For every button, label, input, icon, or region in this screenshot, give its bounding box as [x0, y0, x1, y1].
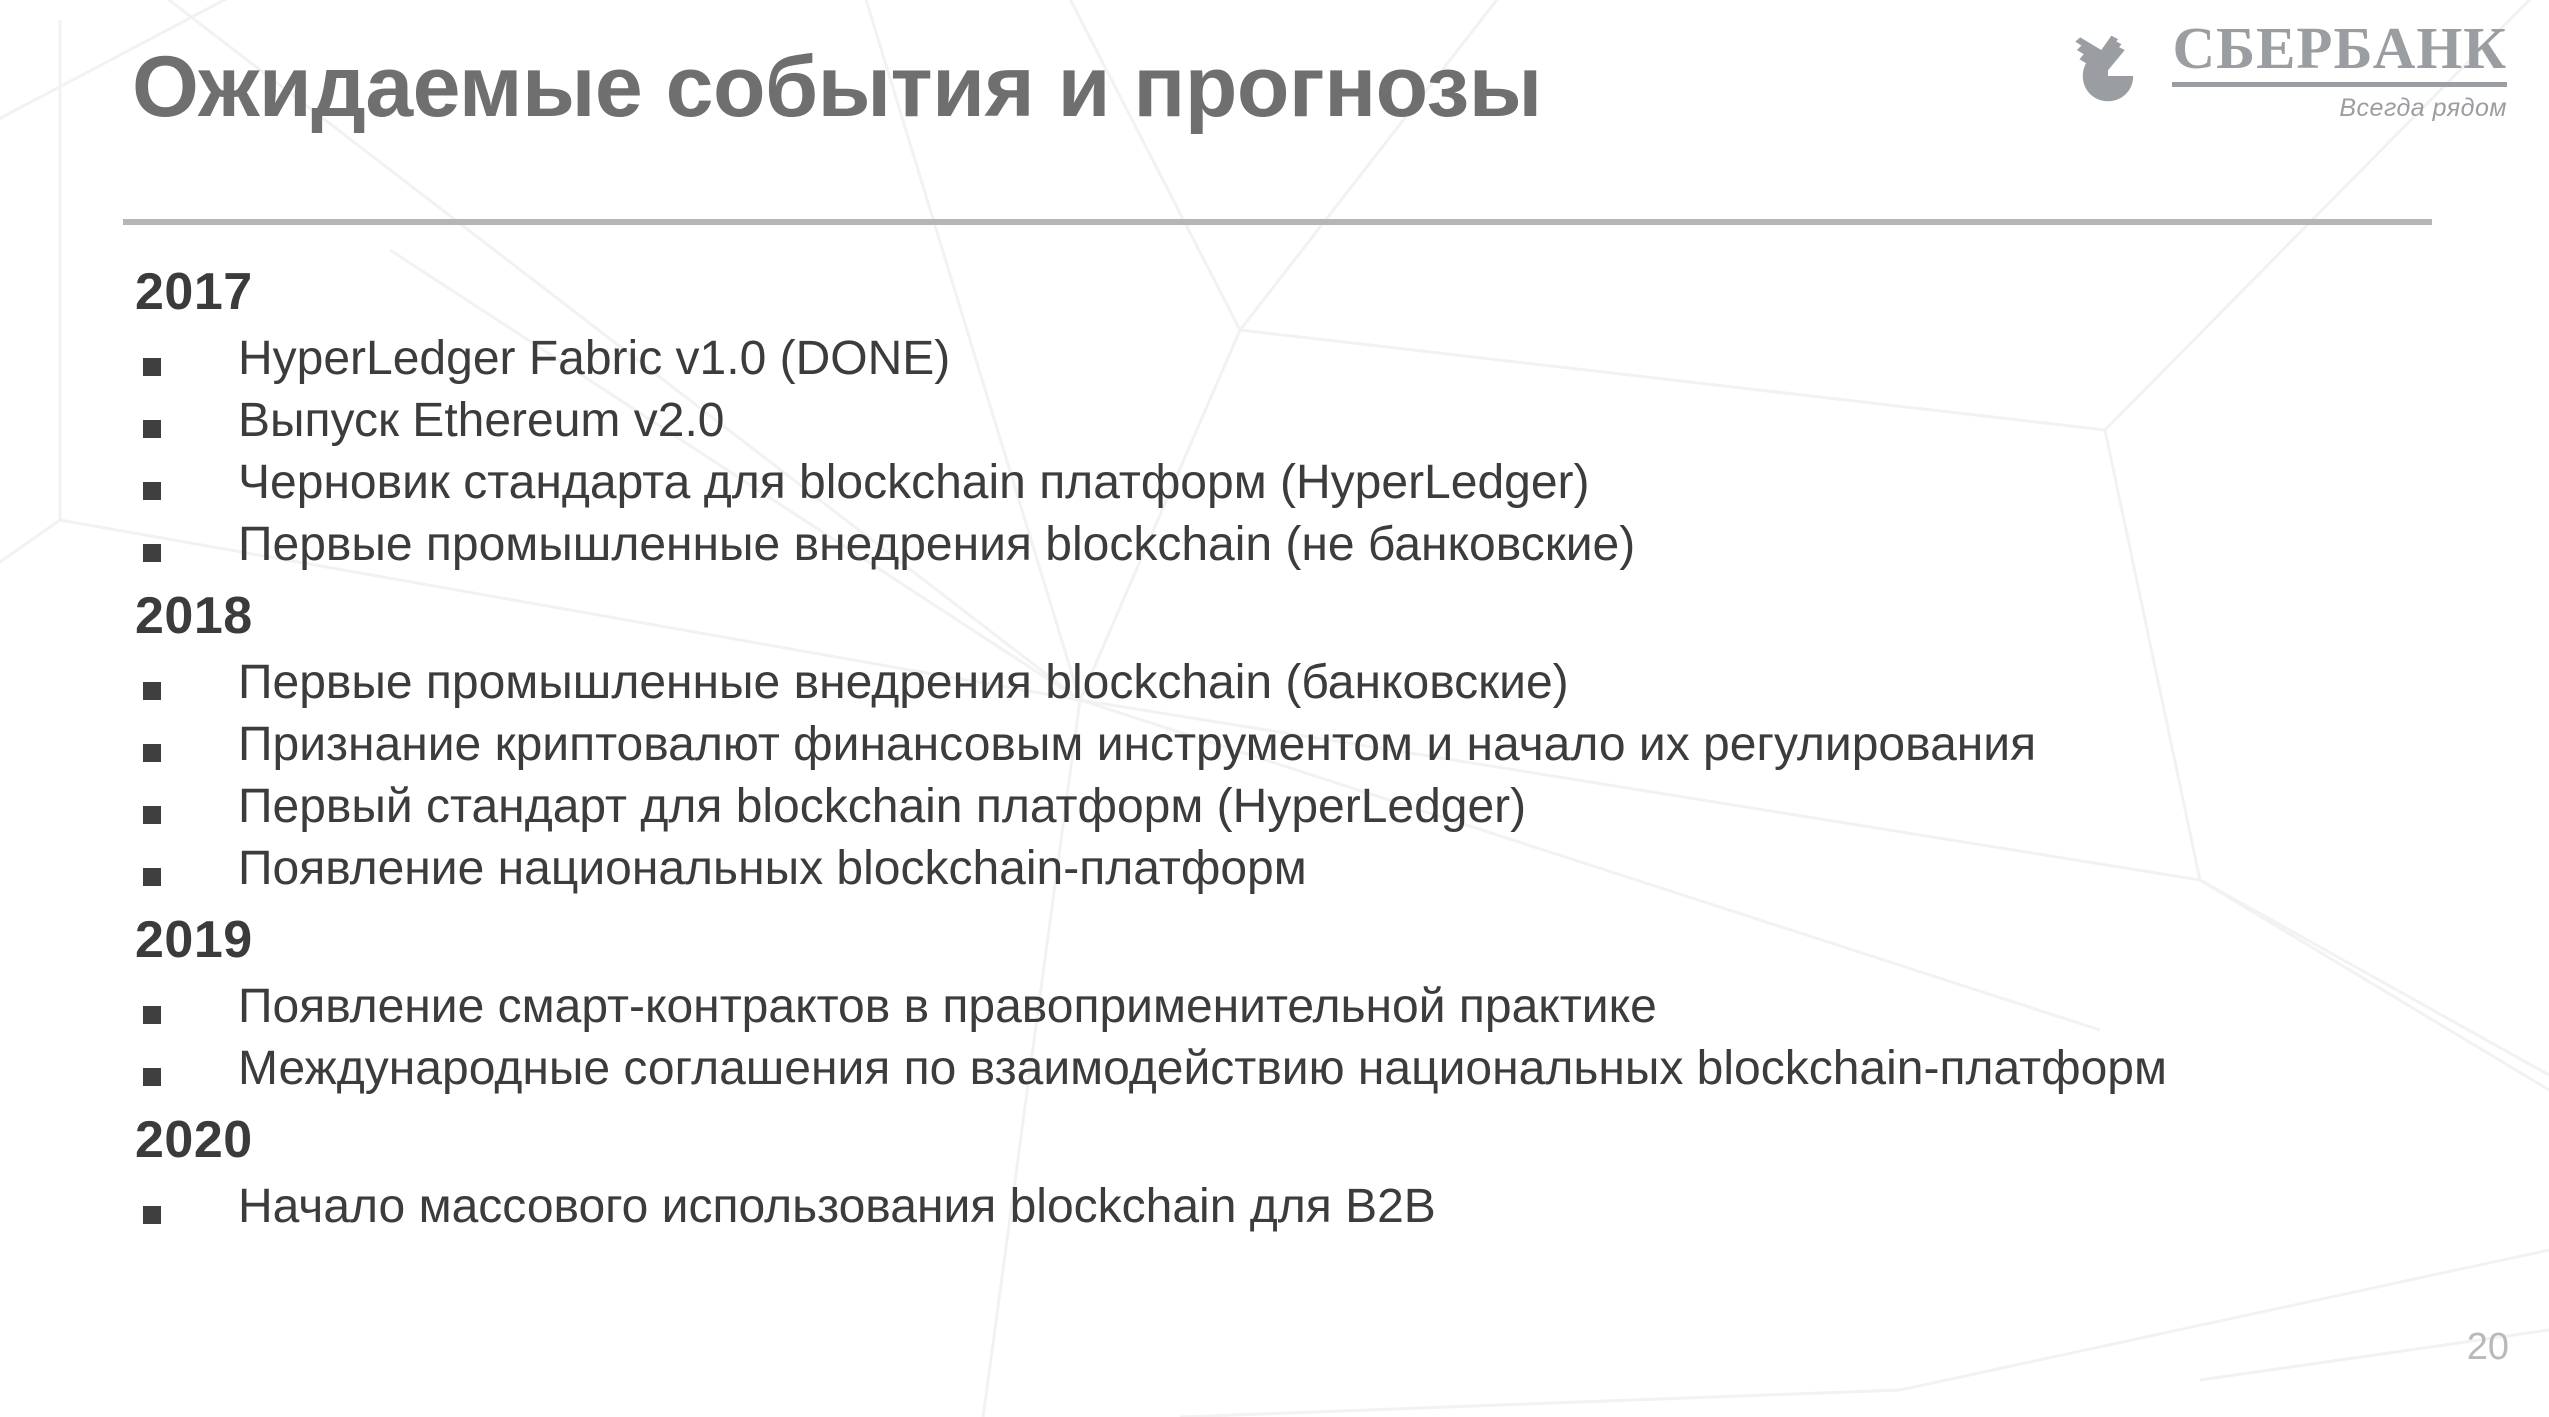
list-item: Международные соглашения по взаимодейств… [143, 1038, 2549, 1100]
list-item-label: Первые промышленные внедрения blockchain… [238, 521, 1635, 569]
list-item-label: Начало массового использования blockchai… [238, 1183, 1436, 1231]
list-item-label: Первые промышленные внедрения blockchain… [238, 659, 1569, 707]
list-item-label: HyperLedger Fabric v1.0 (DONE) [238, 335, 950, 383]
sberbank-logo: СБЕРБАНК Всегда рядом [2066, 18, 2507, 123]
list-item-label: Признание криптовалют финансовым инструм… [238, 721, 2036, 769]
year-heading-2020: 2020 [135, 1100, 2549, 1176]
slide: Ожидаемые события и прогнозы СБЕРБАНК Вс… [0, 0, 2549, 1417]
logo-wordmark: СБЕРБАНК [2172, 18, 2507, 78]
list-item-label: Появление смарт-контрактов в правопримен… [238, 983, 1657, 1031]
list-item: Первые промышленные внедрения blockchain… [143, 652, 2549, 714]
year-heading-2018: 2018 [135, 576, 2549, 652]
list-item-label: Первый стандарт для blockchain платформ … [238, 783, 1526, 831]
square-bullet-icon [143, 420, 161, 438]
list-item-label: Черновик стандарта для blockchain платфо… [238, 459, 1590, 507]
square-bullet-icon [143, 1068, 161, 1086]
logo-text-block: СБЕРБАНК Всегда рядом [2172, 18, 2507, 123]
list-item: Начало массового использования blockchai… [143, 1176, 2549, 1238]
square-bullet-icon [143, 544, 161, 562]
list-item: Первый стандарт для blockchain платформ … [143, 776, 2549, 838]
square-bullet-icon [143, 682, 161, 700]
square-bullet-icon [143, 358, 161, 376]
list-item: Выпуск Ethereum v2.0 [143, 390, 2549, 452]
header-divider [123, 219, 2432, 225]
list-item: Черновик стандарта для blockchain платфо… [143, 452, 2549, 514]
list-item: Признание криптовалют финансовым инструм… [143, 714, 2549, 776]
logo-underline [2172, 82, 2507, 87]
square-bullet-icon [143, 806, 161, 824]
content-body: 2017 HyperLedger Fabric v1.0 (DONE) Выпу… [0, 252, 2549, 1238]
square-bullet-icon [143, 1206, 161, 1224]
list-item: HyperLedger Fabric v1.0 (DONE) [143, 328, 2549, 390]
year-heading-2019: 2019 [135, 900, 2549, 976]
square-bullet-icon [143, 1006, 161, 1024]
list-item: Появление смарт-контрактов в правопримен… [143, 976, 2549, 1038]
list-item: Первые промышленные внедрения blockchain… [143, 514, 2549, 576]
square-bullet-icon [143, 868, 161, 886]
list-item: Появление национальных blockchain-платфо… [143, 838, 2549, 900]
square-bullet-icon [143, 744, 161, 762]
list-item-label: Международные соглашения по взаимодейств… [238, 1045, 2167, 1093]
list-item-label: Появление национальных blockchain-платфо… [238, 845, 1307, 893]
square-bullet-icon [143, 482, 161, 500]
list-item-label: Выпуск Ethereum v2.0 [238, 397, 724, 445]
year-heading-2017: 2017 [135, 252, 2549, 328]
logo-tagline: Всегда рядом [2339, 94, 2507, 123]
sberbank-logomark-icon [2066, 29, 2150, 113]
page-title: Ожидаемые события и прогнозы [132, 38, 1542, 137]
page-number: 20 [2467, 1326, 2509, 1369]
